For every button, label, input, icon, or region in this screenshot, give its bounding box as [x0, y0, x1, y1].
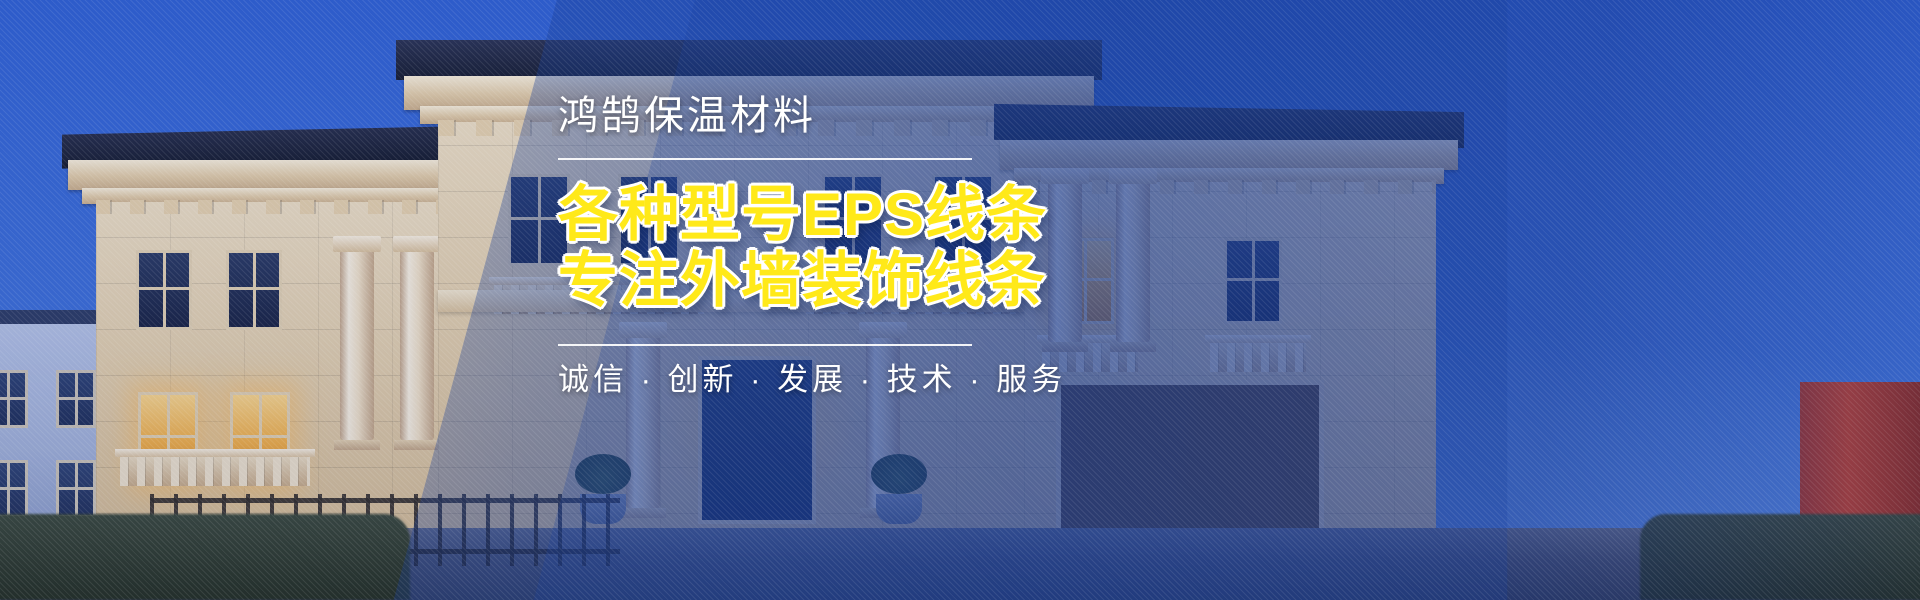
- red-container: [1800, 382, 1920, 522]
- hedge-right: [1640, 514, 1920, 600]
- headline: 各种型号EPS线条 专注外墙装饰线条: [558, 182, 1278, 314]
- window: [0, 460, 28, 518]
- roof: [396, 40, 1102, 80]
- hero-banner: 鸿鹄保温材料 各种型号EPS线条 专注外墙装饰线条 诚信 · 创新 · 发展 ·…: [0, 0, 1920, 600]
- window: [136, 250, 192, 330]
- column: [400, 250, 434, 440]
- cornice-upper: [68, 160, 492, 190]
- tagline: 诚信 · 创新 · 发展 · 技术 · 服务: [558, 364, 1278, 395]
- banner-copy: 鸿鹄保温材料 各种型号EPS线条 专注外墙装饰线条 诚信 · 创新 · 发展 ·…: [558, 96, 1278, 395]
- balustrade: [120, 456, 310, 486]
- divider-rule-top: [558, 158, 972, 160]
- tagline-group: 诚信 · 创新 · 发展 · 技术 · 服务: [558, 344, 1278, 395]
- window: [226, 250, 282, 330]
- column: [340, 250, 374, 440]
- potted-plant: [876, 454, 927, 524]
- hedge-left: [0, 514, 410, 600]
- divider-rule-bottom: [558, 344, 972, 346]
- headline-line-2: 专注外墙装饰线条: [558, 248, 1278, 314]
- brand-name: 鸿鹄保温材料: [558, 96, 1278, 136]
- dentil-course: [96, 200, 468, 214]
- headline-line-1: 各种型号EPS线条: [558, 181, 1047, 248]
- garage-door: [1056, 380, 1324, 546]
- window: [0, 370, 28, 428]
